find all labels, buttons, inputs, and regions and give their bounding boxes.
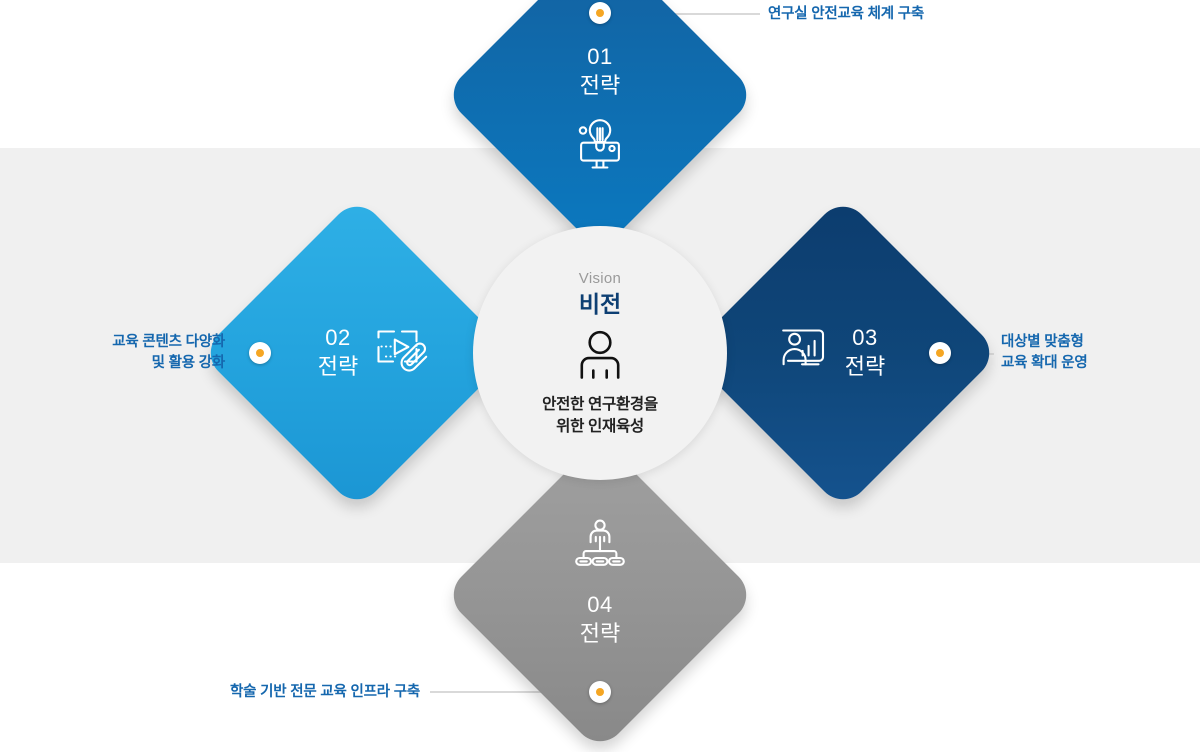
vision-title: 비전 — [579, 289, 621, 319]
vision-eyebrow: Vision — [579, 269, 621, 288]
connector-dot-top[interactable] — [589, 2, 611, 24]
strategy-card-03[interactable]: 03 전략 — [732, 242, 954, 464]
strategy-card-01[interactable]: 01 전략 — [489, 0, 711, 206]
person-icon — [575, 329, 625, 388]
outer-label-02: 교육 콘텐츠 다양화 및 활용 강화 — [20, 332, 225, 374]
strategy-card-04[interactable]: 04 전략 — [489, 484, 711, 706]
strategy-diagram: 01 전략 — [0, 0, 1200, 708]
vision-circle: Vision 비전 안전한 연구환경을 위한 인재육성 — [473, 226, 727, 480]
strategy-shape-04 — [443, 438, 757, 752]
vision-description: 안전한 연구환경을 위한 인재육성 — [542, 394, 658, 438]
strategy-card-02[interactable]: 02 전략 — [246, 242, 468, 464]
outer-label-04: 학술 기반 전문 교육 인프라 구축 — [120, 682, 420, 703]
connector-dot-bottom[interactable] — [589, 681, 611, 703]
strategy-shape-03 — [686, 196, 1000, 510]
connector-dot-right[interactable] — [929, 342, 951, 364]
outer-label-03: 대상별 맞춤형 교육 확대 운영 — [1001, 332, 1191, 374]
outer-label-01: 연구실 안전교육 체계 구축 — [768, 4, 1028, 25]
strategy-shape-02 — [200, 196, 514, 510]
connector-dot-left[interactable] — [249, 342, 271, 364]
